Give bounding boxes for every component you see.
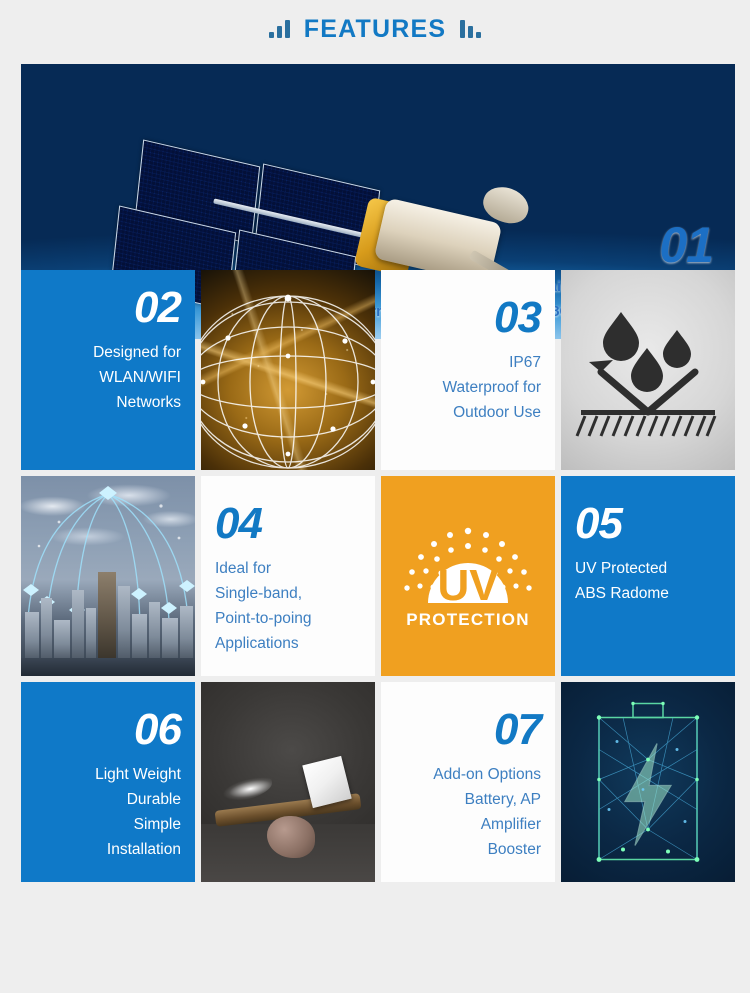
feature-description-06: Light Weight Durable Simple Installation: [95, 762, 181, 862]
water-repellent-droplets-icon: [573, 290, 723, 450]
page-header: FEATURES: [0, 0, 750, 58]
card-07-line-3: Amplifier: [433, 812, 541, 837]
uv-protection-tile: UV PROTECTION: [381, 476, 555, 676]
page-title: FEATURES: [304, 15, 446, 44]
features-page: FEATURES 01 23dBi High ga: [0, 0, 750, 993]
card-02-line-2: WLAN/WIFI: [93, 365, 181, 390]
night-city-network-image: [201, 270, 375, 470]
feature-card-02: 02 Designed for WLAN/WIFI Networks: [21, 270, 195, 470]
feature-number-04: 04: [215, 502, 262, 546]
card-03-line-1: IP67: [443, 350, 542, 375]
card-06-line-4: Installation: [95, 837, 181, 862]
feature-card-03: 03 IP67 Waterproof for Outdoor Use: [381, 270, 555, 470]
feature-number-07: 07: [494, 708, 541, 752]
feature-description-04: Ideal for Single-band, Point-to-poing Ap…: [215, 556, 312, 656]
svg-text:UV: UV: [437, 561, 499, 610]
feature-description-07: Add-on Options Battery, AP Amplifier Boo…: [433, 762, 541, 862]
card-04-line-4: Applications: [215, 631, 312, 656]
feature-description-03: IP67 Waterproof for Outdoor Use: [443, 350, 542, 425]
card-03-line-3: Outdoor Use: [443, 400, 542, 425]
card-03-line-2: Waterproof for: [443, 375, 542, 400]
uv-protection-sun-icon: UV PROTECTION: [393, 501, 543, 651]
feature-card-06: 06 Light Weight Durable Simple Installat…: [21, 682, 195, 882]
card-05-line-2: ABS Radome: [575, 581, 669, 606]
card-04-line-2: Single-band,: [215, 581, 312, 606]
feature-card-04: 04 Ideal for Single-band, Point-to-poing…: [201, 476, 375, 676]
wireframe-battery-lightning-icon: [573, 690, 723, 875]
card-02-line-1: Designed for: [93, 340, 181, 365]
card-06-line-3: Simple: [95, 812, 181, 837]
network-globe-icon: [201, 286, 375, 470]
card-06-line-1: Light Weight: [95, 762, 181, 787]
card-04-line-3: Point-to-poing: [215, 606, 312, 631]
card-06-line-2: Durable: [95, 787, 181, 812]
svg-text:PROTECTION: PROTECTION: [406, 610, 529, 629]
battery-wireframe-image: [561, 682, 735, 882]
lightweight-balance-image: [201, 682, 375, 882]
card-02-line-3: Networks: [93, 390, 181, 415]
stone-fulcrum: [267, 816, 315, 858]
bar-chart-ascending-icon: [269, 20, 290, 38]
card-07-line-4: Booster: [433, 837, 541, 862]
feature-description-02: Designed for WLAN/WIFI Networks: [93, 340, 181, 415]
feature-description-05: UV Protected ABS Radome: [575, 556, 669, 606]
feature-number-06: 06: [134, 708, 181, 752]
feature-card-05: 05 UV Protected ABS Radome: [561, 476, 735, 676]
features-grid: 01 23dBi High gain providing optimized p…: [21, 64, 729, 882]
card-07-line-1: Add-on Options: [433, 762, 541, 787]
feature-card-07: 07 Add-on Options Battery, AP Amplifier …: [381, 682, 555, 882]
waterproof-icon-tile: [561, 270, 735, 470]
card-05-line-1: UV Protected: [575, 556, 669, 581]
feature-number-03: 03: [494, 296, 541, 340]
bar-chart-descending-icon: [460, 20, 481, 38]
feature-number-01: 01: [659, 216, 713, 274]
feather-icon: [216, 774, 275, 805]
feature-number-05: 05: [575, 502, 622, 546]
feature-number-02: 02: [134, 286, 181, 330]
smart-city-coverage-image: [21, 476, 195, 676]
card-04-line-1: Ideal for: [215, 556, 312, 581]
card-07-line-2: Battery, AP: [433, 787, 541, 812]
